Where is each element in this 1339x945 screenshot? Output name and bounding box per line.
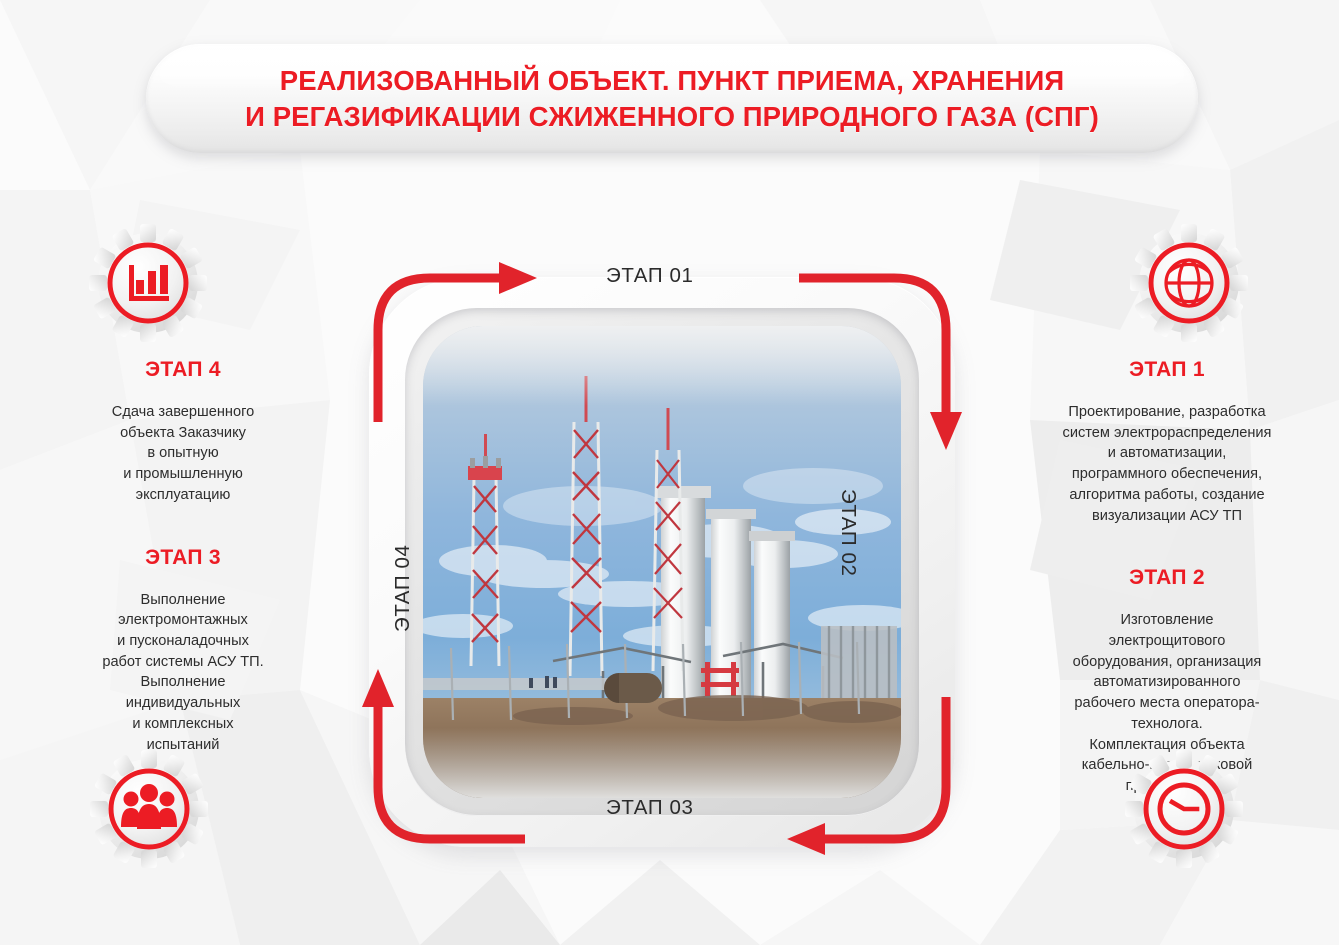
badge-people-group bbox=[88, 748, 210, 870]
stage-4-heading: ЭТАП 4 bbox=[38, 358, 328, 382]
cycle-label-stage-01: ЭТАП 01 bbox=[606, 264, 693, 288]
infographic-slide: РЕАЛИЗОВАННЫЙ ОБЪЕКТ. ПУНКТ ПРИЕМА, ХРАН… bbox=[0, 0, 1339, 945]
page-title: РЕАЛИЗОВАННЫЙ ОБЪЕКТ. ПУНКТ ПРИЕМА, ХРАН… bbox=[245, 63, 1099, 134]
stage-3-heading: ЭТАП 3 bbox=[38, 546, 328, 570]
stage-1-description: Проектирование, разработка систем электр… bbox=[1022, 402, 1312, 526]
stage-3-description: Выполнение электромонтажных и пусконалад… bbox=[38, 590, 328, 756]
cycle-label-stage-03: ЭТАП 03 bbox=[606, 796, 693, 820]
badge-clock bbox=[1123, 748, 1245, 870]
stage-2-heading: ЭТАП 2 bbox=[1022, 566, 1312, 590]
cycle-label-stage-02: ЭТАП 02 bbox=[836, 489, 860, 576]
process-cycle-diagram: ЭТАП 01 ЭТАП 02 ЭТАП 03 ЭТАП 04 bbox=[347, 252, 977, 872]
stage-4-description: Сдача завершенного объекта Заказчику в о… bbox=[38, 402, 328, 506]
title-banner: РЕАЛИЗОВАННЫЙ ОБЪЕКТ. ПУНКТ ПРИЕМА, ХРАН… bbox=[146, 44, 1198, 153]
right-stage-column: ЭТАП 1 Проектирование, разработка систем… bbox=[1022, 358, 1312, 797]
badge-bar-chart bbox=[87, 222, 209, 344]
cycle-label-stage-04: ЭТАП 04 bbox=[391, 545, 415, 632]
badge-globe bbox=[1128, 222, 1250, 344]
stage-1-heading: ЭТАП 1 bbox=[1022, 358, 1312, 382]
left-stage-column: ЭТАП 4 Сдача завершенного объекта Заказч… bbox=[38, 358, 328, 755]
project-photo bbox=[423, 326, 901, 798]
